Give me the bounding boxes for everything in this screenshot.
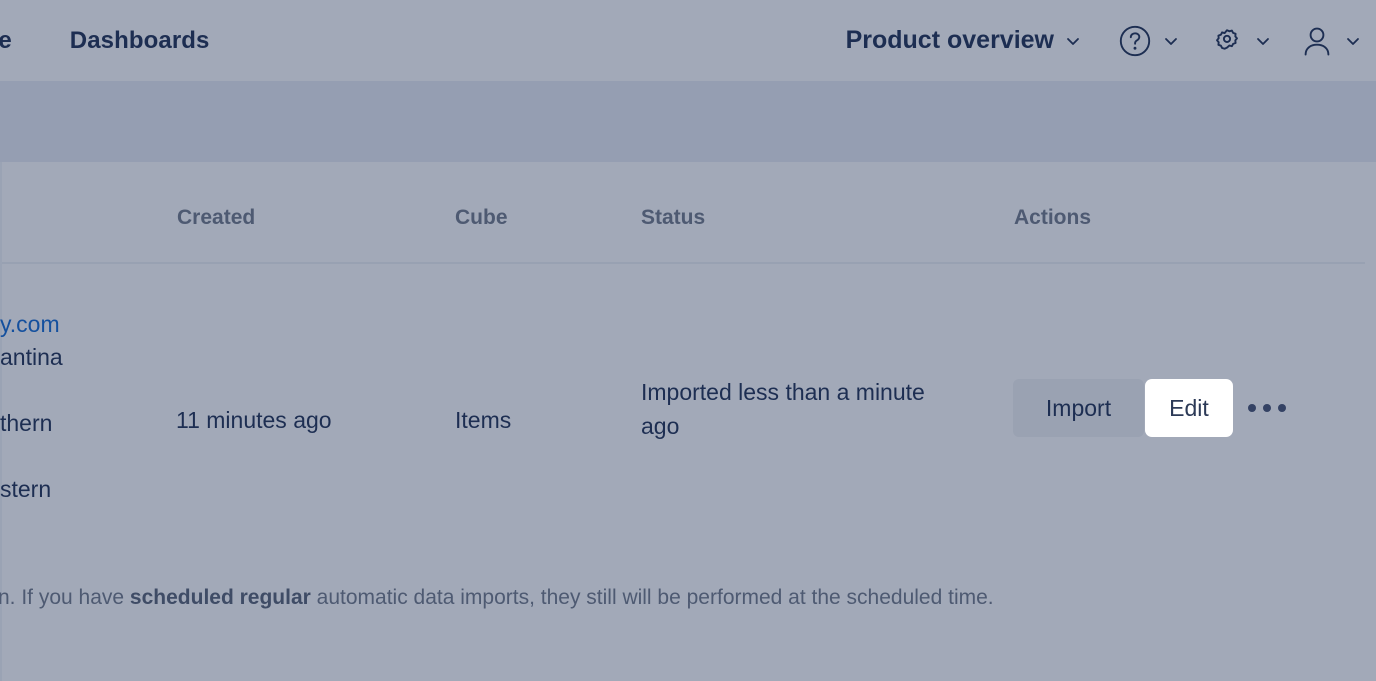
table-row: y.com antina thern stern 11 minutes ago …	[0, 262, 1376, 562]
product-overview-label: Product overview	[846, 26, 1054, 55]
column-header-cube: Cube	[455, 206, 508, 230]
cell-status: Imported less than a minute ago	[641, 375, 941, 443]
chevron-down-icon	[1254, 32, 1272, 50]
chevron-down-icon	[1344, 32, 1362, 50]
chevron-down-icon	[1064, 32, 1082, 50]
question-mark-circle-icon	[1118, 24, 1152, 58]
cell-created: 11 minutes ago	[176, 407, 332, 434]
nav-right-group: Product overview	[846, 0, 1376, 81]
page-subheader-bar: s	[0, 81, 1376, 162]
schedule-note-suffix: automatic data imports, they still will …	[311, 586, 994, 609]
help-menu[interactable]	[1118, 0, 1180, 81]
account-menu[interactable]	[1300, 0, 1362, 81]
schedule-note: n. If you have scheduled regular automat…	[0, 584, 994, 612]
schedule-note-emphasis: scheduled regular	[130, 586, 311, 609]
column-header-actions: Actions	[1014, 206, 1091, 230]
nav-link-dashboards[interactable]: Dashboards	[70, 27, 210, 55]
app-root: lyze Dashboards Product overview	[0, 0, 1376, 681]
cell-source-name: y.com antina thern stern	[0, 308, 63, 506]
user-icon	[1300, 23, 1334, 59]
top-navigation-bar: lyze Dashboards Product overview	[0, 0, 1376, 81]
product-overview-menu[interactable]: Product overview	[846, 0, 1082, 81]
chevron-down-icon	[1162, 32, 1180, 50]
settings-menu[interactable]	[1210, 0, 1272, 81]
import-button[interactable]: Import	[1013, 379, 1144, 437]
gear-icon	[1210, 24, 1244, 58]
cell-actions: Import Edit	[1013, 379, 1293, 437]
source-subtitle: antina	[0, 341, 63, 374]
edit-button[interactable]: Edit	[1145, 379, 1233, 437]
source-link[interactable]: y.com	[0, 308, 63, 341]
ellipsis-dot	[1263, 404, 1271, 412]
imports-table: Created Cube Status Actions y.com antina…	[0, 162, 1376, 562]
table-header-row: Created Cube Status Actions	[0, 162, 1376, 262]
cell-cube: Items	[455, 407, 511, 434]
nav-link-analyze[interactable]: lyze	[0, 27, 12, 55]
ellipsis-horizontal-icon	[1248, 404, 1256, 412]
source-detail-line-4: stern	[0, 473, 63, 506]
more-options-button[interactable]	[1241, 379, 1293, 437]
column-header-created: Created	[177, 206, 255, 230]
schedule-note-prefix: n. If you have	[0, 586, 130, 609]
ellipsis-dot	[1278, 404, 1286, 412]
column-header-status: Status	[641, 206, 705, 230]
nav-left-group: lyze Dashboards	[0, 0, 209, 81]
source-detail-line-3: thern	[0, 407, 63, 440]
